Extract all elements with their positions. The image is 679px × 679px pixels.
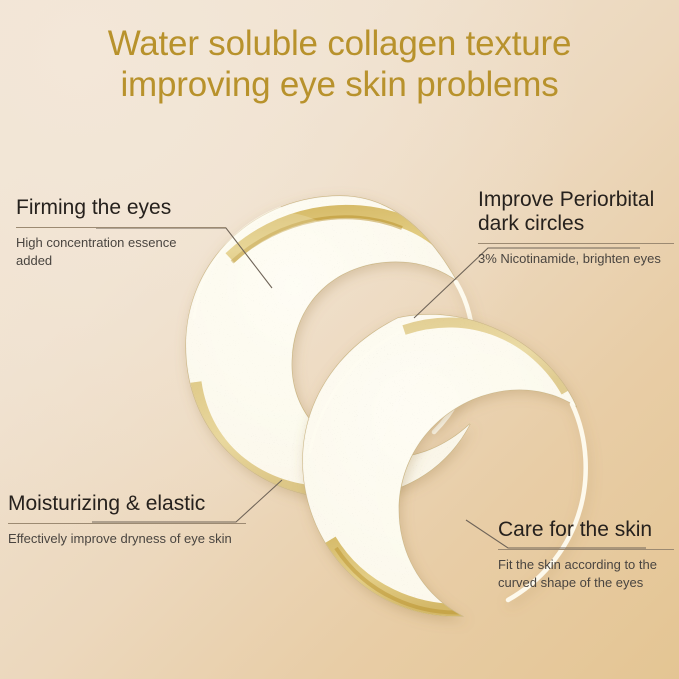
callout-care-sub: Fit the skin according to the curved sha… bbox=[498, 556, 674, 593]
callout-firming-rule bbox=[16, 227, 226, 228]
callout-periorbital: Improve Periorbital dark circles 3% Nico… bbox=[478, 188, 674, 268]
callout-moisturizing-sub: Effectively improve dryness of eye skin bbox=[8, 530, 246, 548]
product-infographic: Water soluble collagen texture improving… bbox=[0, 0, 679, 679]
callout-periorbital-heading: Improve Periorbital dark circles bbox=[478, 188, 674, 236]
callout-moisturizing: Moisturizing & elastic Effectively impro… bbox=[8, 492, 246, 548]
callout-moisturizing-heading: Moisturizing & elastic bbox=[8, 492, 246, 516]
callout-periorbital-sub: 3% Nicotinamide, brighten eyes bbox=[478, 250, 674, 268]
callout-care-heading: Care for the skin bbox=[498, 518, 674, 542]
callout-firming-sub: High concentration essence added bbox=[16, 234, 226, 271]
callout-moisturizing-rule bbox=[8, 523, 246, 524]
callout-care-rule bbox=[498, 549, 674, 550]
callout-care: Care for the skin Fit the skin according… bbox=[498, 518, 674, 593]
callout-firming: Firming the eyes High concentration esse… bbox=[16, 196, 226, 271]
callout-firming-heading: Firming the eyes bbox=[16, 196, 226, 220]
callout-periorbital-rule bbox=[478, 243, 674, 244]
